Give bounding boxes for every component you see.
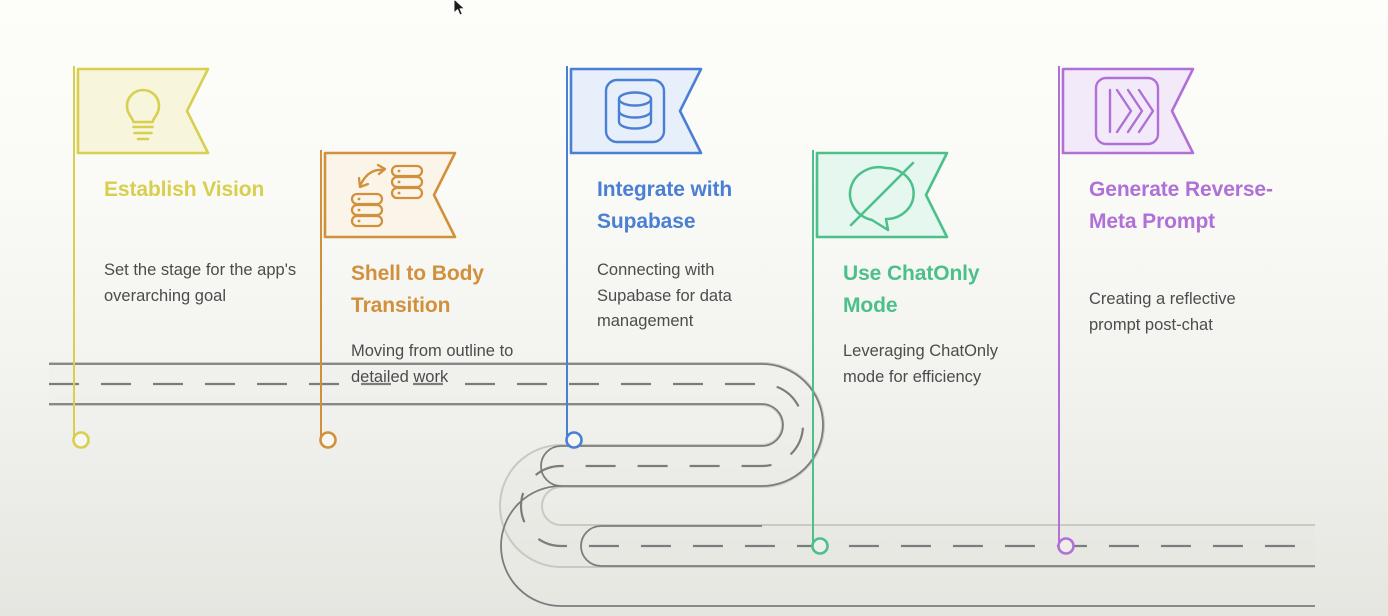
milestone-description: Creating a reflective prompt post-chat <box>1089 287 1285 338</box>
road-edges <box>49 384 1315 546</box>
milestone-description: Leveraging ChatOnly mode for efficiency <box>843 339 1039 390</box>
milestone-description: Set the stage for the app's overarching … <box>104 258 300 309</box>
milestone-title: Generate Reverse-Meta Prompt <box>1089 174 1279 239</box>
milestone-title: Integrate with Supabase <box>597 174 787 239</box>
flag-banner <box>1060 66 1196 156</box>
roadmap-diagram: Establish Vision Set the stage for the a… <box>0 0 1388 616</box>
flag-banner <box>322 150 458 240</box>
milestone-title: Use ChatOnly Mode <box>843 258 1033 323</box>
milestone-title: Shell to Body Transition <box>351 258 541 323</box>
milestone-title: Establish Vision <box>104 174 294 206</box>
mouse-cursor <box>452 0 466 18</box>
flag-banner <box>568 66 704 156</box>
milestone-description: Connecting with Supabase for data manage… <box>597 258 793 335</box>
flag-banner <box>814 150 950 240</box>
milestone-description: Moving from outline to detailed work <box>351 339 547 390</box>
flag-banner <box>75 66 211 156</box>
